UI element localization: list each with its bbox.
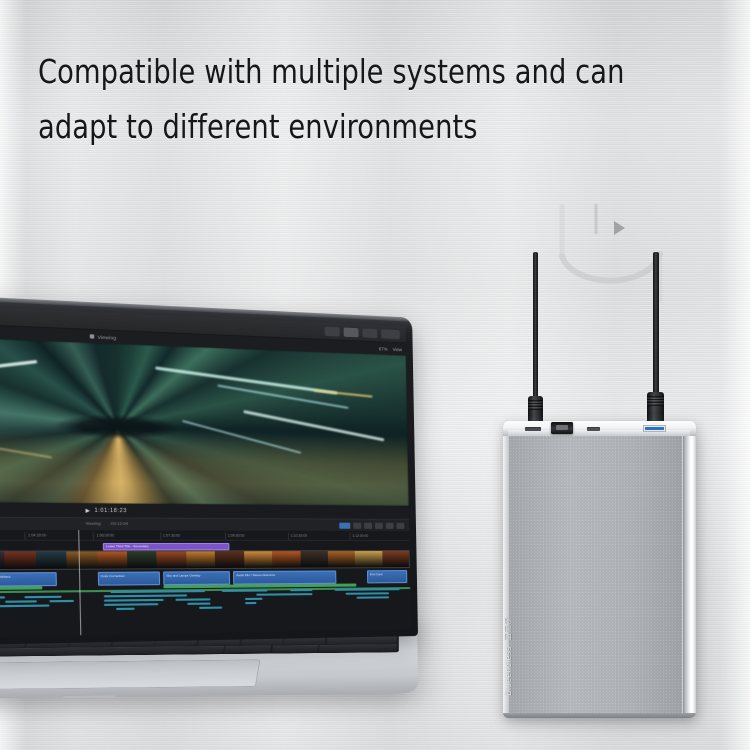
- timeline-tool-button[interactable]: [375, 522, 383, 528]
- timeline-tool-button-active[interactable]: [339, 522, 350, 528]
- timeline[interactable]: 1:00:00:001:01:30:001:03:00:001:04:30:00…: [0, 529, 411, 641]
- tunnel-floor: [0, 422, 409, 506]
- brand-mark: Blueendless 蓝无限: [503, 616, 513, 696]
- laptop-lid-notch: [63, 696, 117, 699]
- duration-label: Viewing: [85, 520, 101, 525]
- timeline-waveform-segment[interactable]: [104, 594, 187, 597]
- timeline-waveform-lane[interactable]: [0, 588, 411, 619]
- dc-power-port[interactable]: [525, 427, 541, 431]
- video-preview[interactable]: [0, 329, 409, 505]
- viewer-title: Viewing: [97, 334, 116, 340]
- connected-plug[interactable]: [551, 422, 573, 434]
- filmstrip-frame: [382, 551, 409, 567]
- timeline-waveform-segment[interactable]: [0, 596, 5, 598]
- filmstrip-frame: [355, 551, 382, 567]
- laptop-screen: Viewing 67% View: [0, 296, 411, 641]
- filmstrip-frame: [300, 551, 328, 567]
- timeline-waveform-segment[interactable]: [222, 589, 268, 592]
- enclosure-bottom-edge: [503, 713, 696, 718]
- zoom-level[interactable]: 67%: [379, 346, 388, 351]
- timeline-waveform-segment[interactable]: [110, 590, 205, 593]
- laptop-lid: Viewing 67% View: [0, 286, 418, 650]
- timeline-connected-clip[interactable]: Through Tunnel Stabilized: [0, 572, 57, 587]
- filmstrip-frame: [97, 551, 127, 568]
- product-banner: Compatible with multiple systems and can…: [0, 0, 750, 750]
- timeline-tool-button[interactable]: [386, 522, 394, 528]
- timecode-secondary-row: Viewing -00:12:04: [85, 520, 128, 526]
- viewer-header-right[interactable]: 67% View: [379, 346, 402, 352]
- toolbar-button[interactable]: [381, 329, 400, 339]
- headline-line-2: adapt to different environments: [38, 99, 673, 154]
- timeline-waveform-segment[interactable]: [0, 604, 49, 607]
- enclosure-right-chamfer: [683, 431, 696, 718]
- filmstrip-frame: [36, 552, 67, 569]
- enclosure-body: Blueendless 蓝无限: [503, 421, 696, 718]
- timeline-waveform-segment[interactable]: [104, 603, 158, 606]
- ruler-tick: 1:03:00:00: [0, 532, 25, 540]
- timeline-tool-button[interactable]: [364, 522, 372, 528]
- cables: [505, 196, 705, 436]
- timeline-tracks[interactable]: 1:00:00:001:01:30:001:03:00:001:04:30:00…: [0, 529, 411, 640]
- enclosure-texture: [509, 435, 682, 715]
- timeline-connected-clip[interactable]: Sky and Lamps Overlay: [163, 571, 229, 585]
- timeline-waveform-segment[interactable]: [199, 607, 222, 609]
- laptop-lid-shell: Viewing 67% View: [0, 286, 418, 650]
- usb-data-cable: [653, 252, 659, 400]
- brand-name-chinese: 蓝无限: [503, 616, 513, 640]
- headline: Compatible with multiple systems and can…: [38, 44, 673, 154]
- play-icon[interactable]: [86, 508, 91, 512]
- timeline-waveform-segment[interactable]: [5, 600, 36, 603]
- viewer-icon: [90, 334, 95, 338]
- enclosure-top-edge: [503, 421, 696, 436]
- timeline-waveform-segment[interactable]: [290, 589, 312, 591]
- timeline-waveform-segment[interactable]: [187, 603, 210, 605]
- filmstrip-frame: [272, 551, 300, 568]
- ruler-tick: 1:12:00:00: [349, 533, 409, 540]
- ruler-tick: 1:09:00:00: [225, 533, 288, 540]
- filmstrip-frame: [127, 551, 157, 568]
- timeline-tool-button[interactable]: [353, 522, 361, 528]
- filmstrip-frame: [67, 552, 98, 569]
- view-menu[interactable]: View: [393, 346, 403, 351]
- headline-line-1: Compatible with multiple systems and can: [38, 44, 673, 99]
- timeline-connected-clip[interactable]: Audio Mix / Stereo Downmix: [233, 570, 336, 584]
- toolbar-button[interactable]: [362, 328, 377, 338]
- timeline-waveform-segment[interactable]: [116, 608, 134, 610]
- timeline-connected-clip[interactable]: Color Correction: [97, 571, 159, 585]
- spacebar-key[interactable]: [0, 646, 224, 656]
- laptop: Viewing 67% View: [0, 318, 418, 738]
- filmstrip-frame: [215, 551, 244, 568]
- timeline-waveform-segment[interactable]: [256, 593, 312, 596]
- laptop-trackpad[interactable]: [0, 659, 260, 690]
- timeline-tool-button[interactable]: [396, 522, 404, 528]
- filmstrip-frame: [328, 551, 356, 567]
- filmstrip-frame: [157, 551, 187, 568]
- filmstrip-frame: [244, 551, 273, 568]
- toolbar-button[interactable]: [325, 326, 340, 336]
- plug-ridges: [528, 400, 543, 410]
- filmstrip-frame: [186, 551, 215, 568]
- timeline-ruler[interactable]: 1:00:00:001:01:30:001:03:00:001:04:30:00…: [0, 532, 409, 541]
- micro-usb-port[interactable]: [587, 427, 600, 431]
- ruler-tick: 1:04:30:00: [25, 532, 94, 540]
- timeline-waveform-segment[interactable]: [24, 596, 61, 599]
- timeline-waveform-segment[interactable]: [357, 596, 390, 598]
- timeline-waveform-segment[interactable]: [104, 599, 164, 602]
- timecode-secondary: -00:12:04: [109, 521, 128, 526]
- brand-name: Blueendless: [503, 646, 513, 696]
- external-hard-drive-enclosure: Blueendless 蓝无限: [503, 421, 696, 718]
- ruler-tick: 1:10:30:00: [288, 533, 350, 540]
- ruler-tick: 1:07:30:00: [160, 532, 225, 539]
- timeline-waveform-segment[interactable]: [245, 598, 262, 600]
- background-right-highlight: [720, 0, 750, 750]
- timeline-waveform-segment[interactable]: [335, 588, 400, 591]
- timeline-title-lane[interactable]: Basic Title - Main HeadlineLower Third T…: [0, 543, 410, 550]
- filmstrip-frame: [5, 552, 37, 569]
- plug-ridges: [647, 396, 664, 406]
- ruler-tick: 1:06:00:00: [93, 532, 160, 540]
- timecode: 1:01:18:23: [94, 507, 127, 514]
- timeline-connected-clip[interactable]: End Card: [367, 570, 407, 583]
- dc-power-cable: [533, 252, 538, 404]
- timeline-waveform-segment[interactable]: [245, 602, 256, 604]
- timeline-waveform-segment[interactable]: [175, 598, 210, 600]
- toolbar-button-active[interactable]: [344, 327, 359, 337]
- timeline-waveform-segment[interactable]: [49, 600, 74, 602]
- timeline-filmstrip[interactable]: [0, 550, 410, 571]
- timeline-waveform-segment[interactable]: [346, 592, 389, 594]
- enclosure-face: [509, 435, 682, 715]
- usb-3-port[interactable]: [643, 425, 666, 432]
